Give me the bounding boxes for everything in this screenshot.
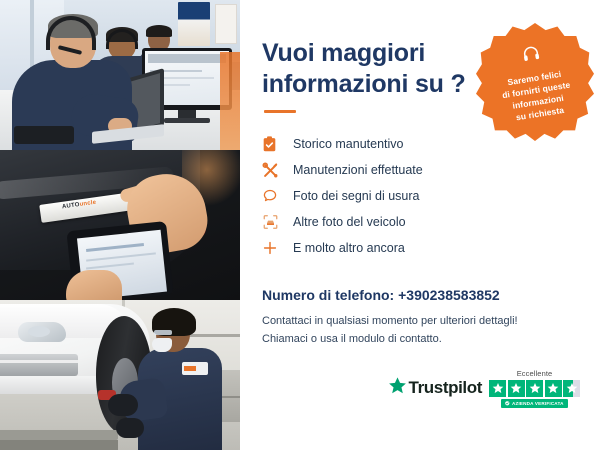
uniform-logo-mark — [184, 366, 196, 371]
plus-icon — [262, 240, 288, 256]
agent-three-hair — [146, 25, 172, 37]
trustpilot-verified-text: AZIENDA VERIFICATA — [512, 401, 564, 406]
trustpilot-rating-widget[interactable]: Trustpilot Eccellente AZIENDA VERIFICATA — [388, 369, 580, 409]
photo-column: AUTOuncle — [0, 0, 240, 450]
trustpilot-logo: Trustpilot — [388, 376, 482, 400]
clipboard-check-icon — [262, 136, 288, 152]
monitor-base — [164, 118, 210, 123]
mechanic-glove-upper — [108, 394, 138, 416]
car-scan-frame-icon — [262, 214, 288, 230]
contact-subtext-line-one: Contattaci in qualsiasi momento per ulte… — [262, 315, 518, 327]
feature-item-label: Storico manutentivo — [293, 137, 403, 151]
star-filled-icon — [545, 380, 562, 397]
feature-item-manutenzioni-effettuate: Manutenzioni effettuate — [262, 157, 578, 183]
desk-tablet — [14, 126, 74, 144]
star-partial-icon — [563, 380, 580, 397]
feature-item-molto-altro: E molto altro ancora — [262, 235, 578, 261]
on-request-badge: Saremo felici di fornirti queste informa… — [476, 23, 594, 141]
feature-item-label: E molto altro ancora — [293, 241, 405, 255]
call-center-agents-photo — [0, 0, 240, 150]
check-shield-icon — [505, 401, 510, 406]
inspector-hand-lower — [66, 270, 122, 300]
star-filled-icon — [526, 380, 543, 397]
wall-notice — [215, 4, 237, 44]
feature-item-altre-foto-veicolo: Altre foto del veicolo — [262, 209, 578, 235]
feature-item-label: Foto dei segni di usura — [293, 189, 419, 203]
speech-bubble-icon — [262, 188, 288, 204]
contact-subtext: Contattaci in qualsiasi momento per ulte… — [262, 312, 578, 348]
tools-cross-icon — [262, 162, 288, 179]
trustpilot-stars — [489, 380, 580, 397]
badge-content: Saremo felici di fornirti queste informa… — [482, 37, 589, 127]
trustpilot-rating-label: Eccellente — [517, 369, 553, 378]
trustpilot-score-block: Eccellente AZIENDA VERIFICATA — [489, 369, 580, 409]
car-lift-platform — [0, 430, 118, 440]
feature-item-label: Manutenzioni effettuate — [293, 163, 423, 177]
orange-background-object — [220, 52, 240, 150]
mechanic-glove-lower — [116, 418, 144, 438]
car-headlight-lens — [28, 326, 50, 337]
feature-item-label: Altre foto del veicolo — [293, 215, 406, 229]
trustpilot-star-icon — [388, 376, 407, 400]
headset-icon — [520, 43, 543, 70]
car-grille-slat — [0, 360, 78, 363]
trustpilot-verified-badge: AZIENDA VERIFICATA — [501, 399, 567, 408]
page-title: Vuoi maggiori informazioni su ? — [262, 38, 477, 99]
headline-line-one: Vuoi maggiori — [262, 39, 425, 67]
content-panel: Vuoi maggiori informazioni su ? Saremo f… — [240, 0, 600, 450]
car-lift-base — [0, 440, 118, 450]
trustpilot-wordmark: Trustpilot — [409, 378, 482, 398]
mechanic-wheel-service-photo — [0, 300, 240, 450]
face-mask-icon — [152, 338, 172, 352]
star-filled-icon — [508, 380, 525, 397]
car-grille — [0, 354, 78, 376]
phone-number-line[interactable]: Numero di telefono: +390238583852 — [262, 287, 578, 303]
star-filled-icon — [489, 380, 506, 397]
headline-line-two: informazioni su ? — [262, 70, 466, 98]
wall-poster — [178, 2, 210, 46]
uniform-logo-patch — [182, 362, 208, 375]
title-underline-rule — [264, 110, 296, 113]
advertisement-banner: AUTOuncle — [0, 0, 600, 450]
feature-item-foto-segni-usura: Foto dei segni di usura — [262, 183, 578, 209]
feature-list: Storico manutentivo Manutenzioni effettu… — [262, 131, 578, 261]
safety-glasses-icon — [154, 330, 172, 335]
vehicle-inspection-tablet-photo: AUTOuncle — [0, 150, 240, 300]
monitor-screen-toolbar — [148, 54, 226, 63]
contact-subtext-line-two: Chiamaci o usa il modulo di contatto. — [262, 333, 442, 345]
